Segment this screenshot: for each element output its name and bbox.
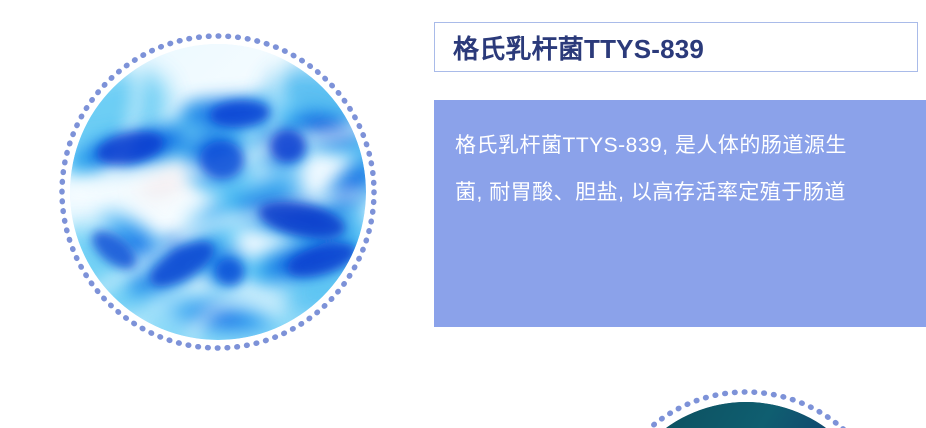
- strain-title-box: 格氏乳杆菌TTYS-839: [434, 22, 918, 72]
- strain-description-panel: 格氏乳杆菌TTYS-839, 是人体的肠道源生菌, 耐胃酸、胆盐, 以高存活率定…: [434, 100, 926, 327]
- lactobacillus-figure: [58, 32, 378, 352]
- gut-flora-figure: [596, 388, 896, 428]
- page-title: 格氏乳杆菌TTYS-839: [435, 29, 704, 66]
- strain-description-text: 格氏乳杆菌TTYS-839, 是人体的肠道源生菌, 耐胃酸、胆盐, 以高存活率定…: [455, 122, 867, 216]
- lactobacillus-micrograph-image: [70, 44, 366, 340]
- microscope-circle-icon-2: [610, 402, 882, 428]
- gut-flora-micrograph-image: [610, 402, 882, 428]
- microscope-circle-icon: [70, 44, 366, 340]
- promo-card-page: 格氏乳杆菌TTYS-839 格氏乳杆菌TTYS-839, 是人体的肠道源生菌, …: [0, 0, 926, 428]
